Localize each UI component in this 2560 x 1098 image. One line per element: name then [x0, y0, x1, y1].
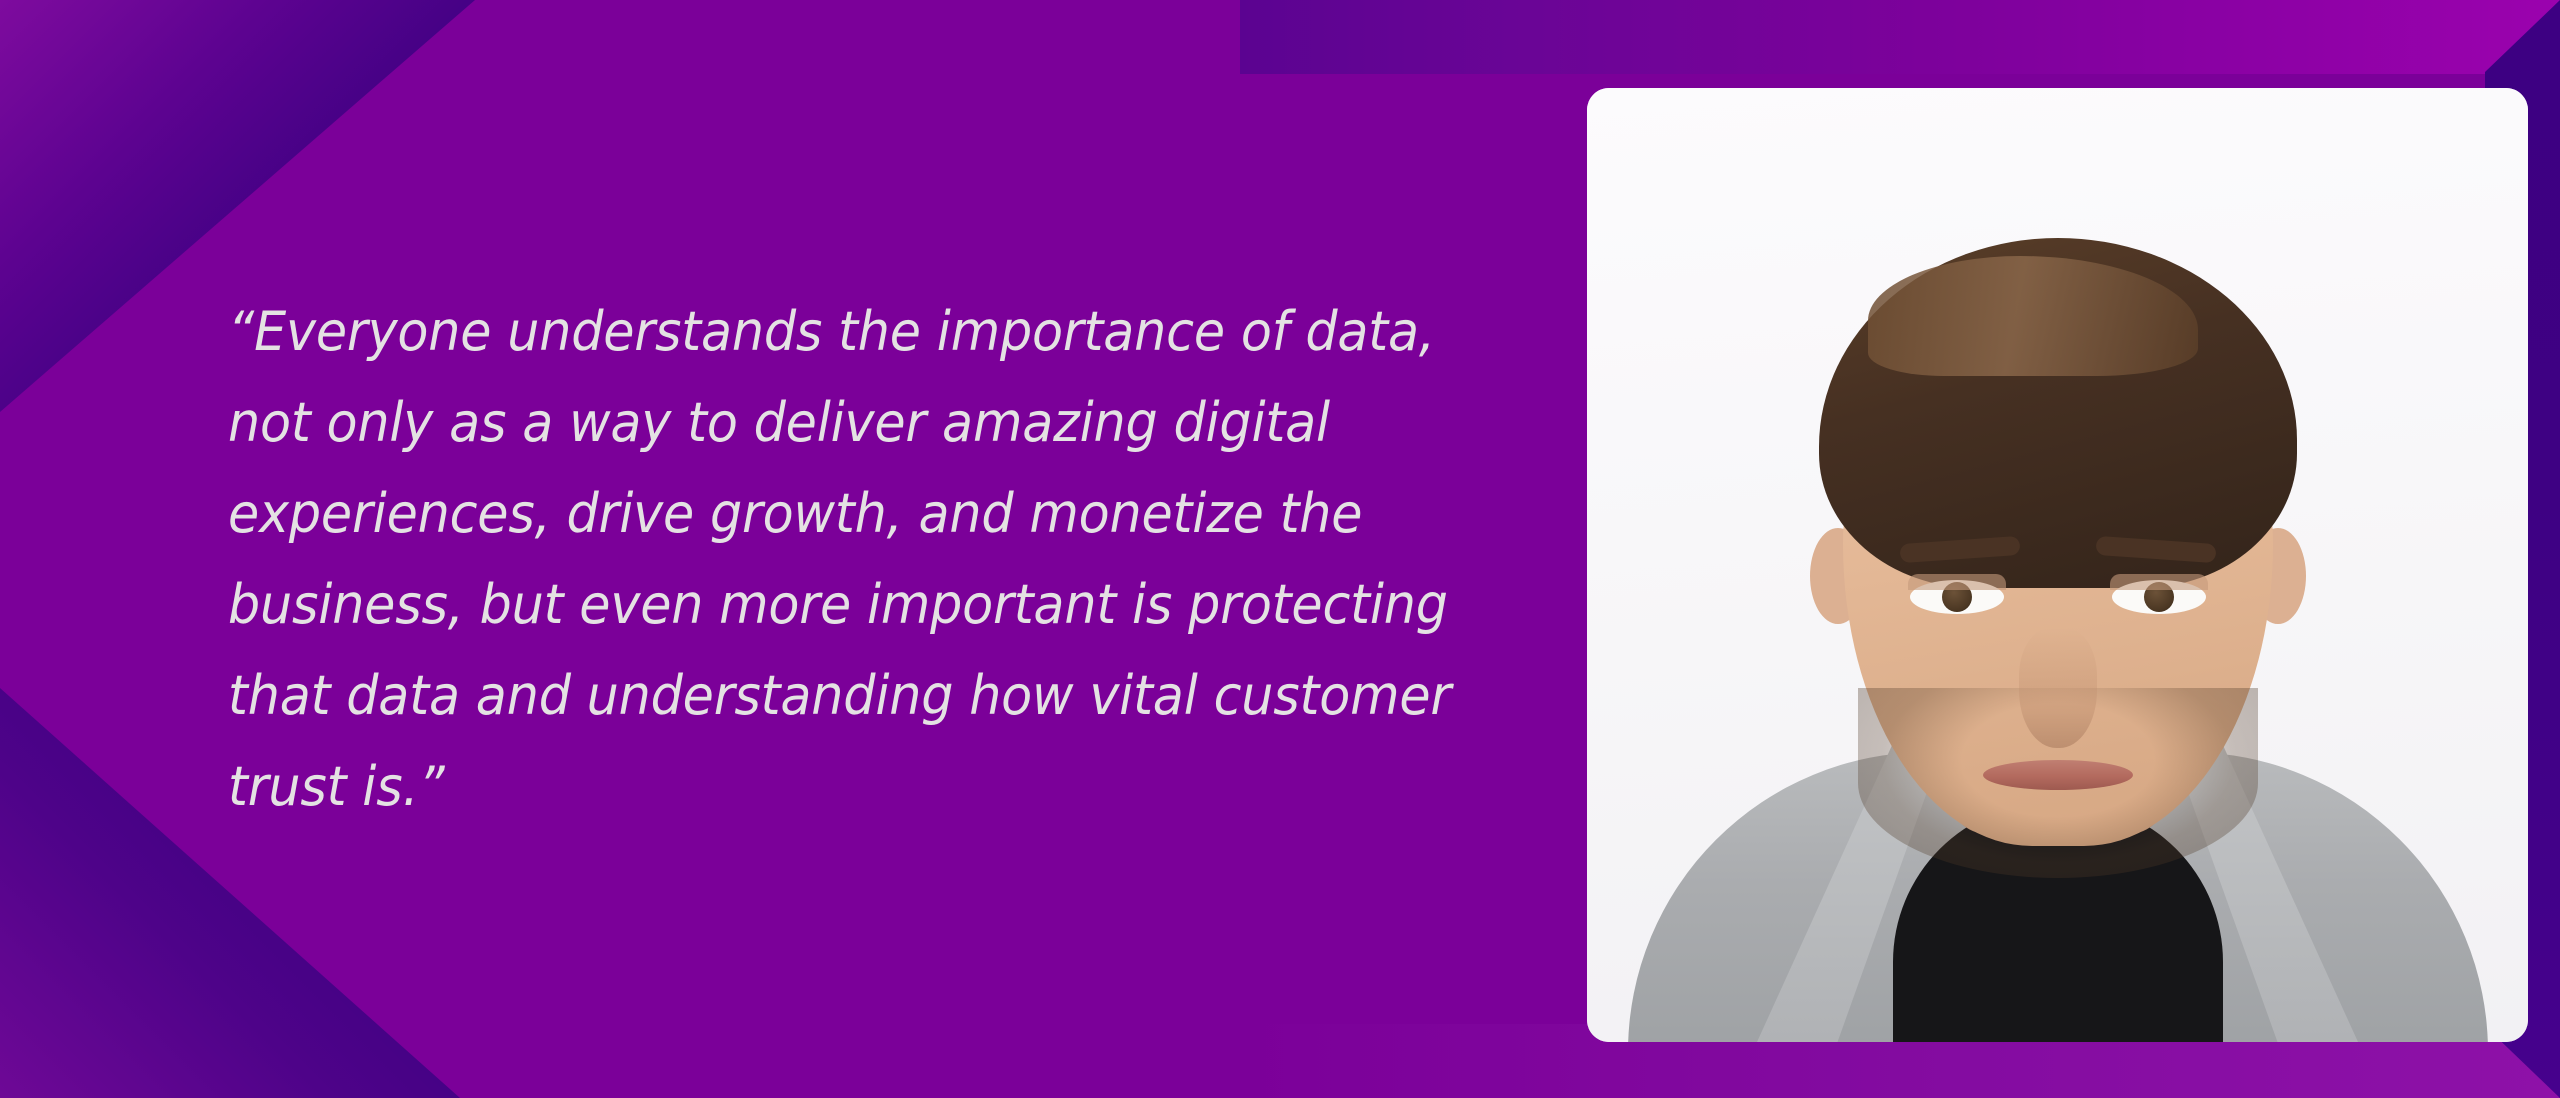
quote-line-6: trust is.”	[228, 741, 1469, 832]
portrait-nose	[2019, 628, 2097, 748]
quote-line-1: “Everyone understands the importance of …	[228, 286, 1469, 377]
quote-line-2: not only as a way to deliver amazing dig…	[228, 377, 1469, 468]
decor-strip-top-icon	[1240, 0, 2560, 74]
quote-line-4: business, but even more important is pro…	[228, 559, 1469, 650]
quote-line-3: experiences, drive growth, and monetize …	[228, 468, 1469, 559]
testimonial-banner: “Everyone understands the importance of …	[0, 0, 2560, 1098]
portrait-eyelid-right	[2110, 574, 2208, 590]
quote-block: “Everyone understands the importance of …	[228, 286, 1548, 832]
portrait-card	[1587, 88, 2528, 1042]
portrait-eyelid-left	[1908, 574, 2006, 590]
portrait-mouth	[1983, 760, 2133, 790]
portrait-photo	[1587, 88, 2528, 1042]
quote-line-5: that data and understanding how vital cu…	[228, 650, 1469, 741]
